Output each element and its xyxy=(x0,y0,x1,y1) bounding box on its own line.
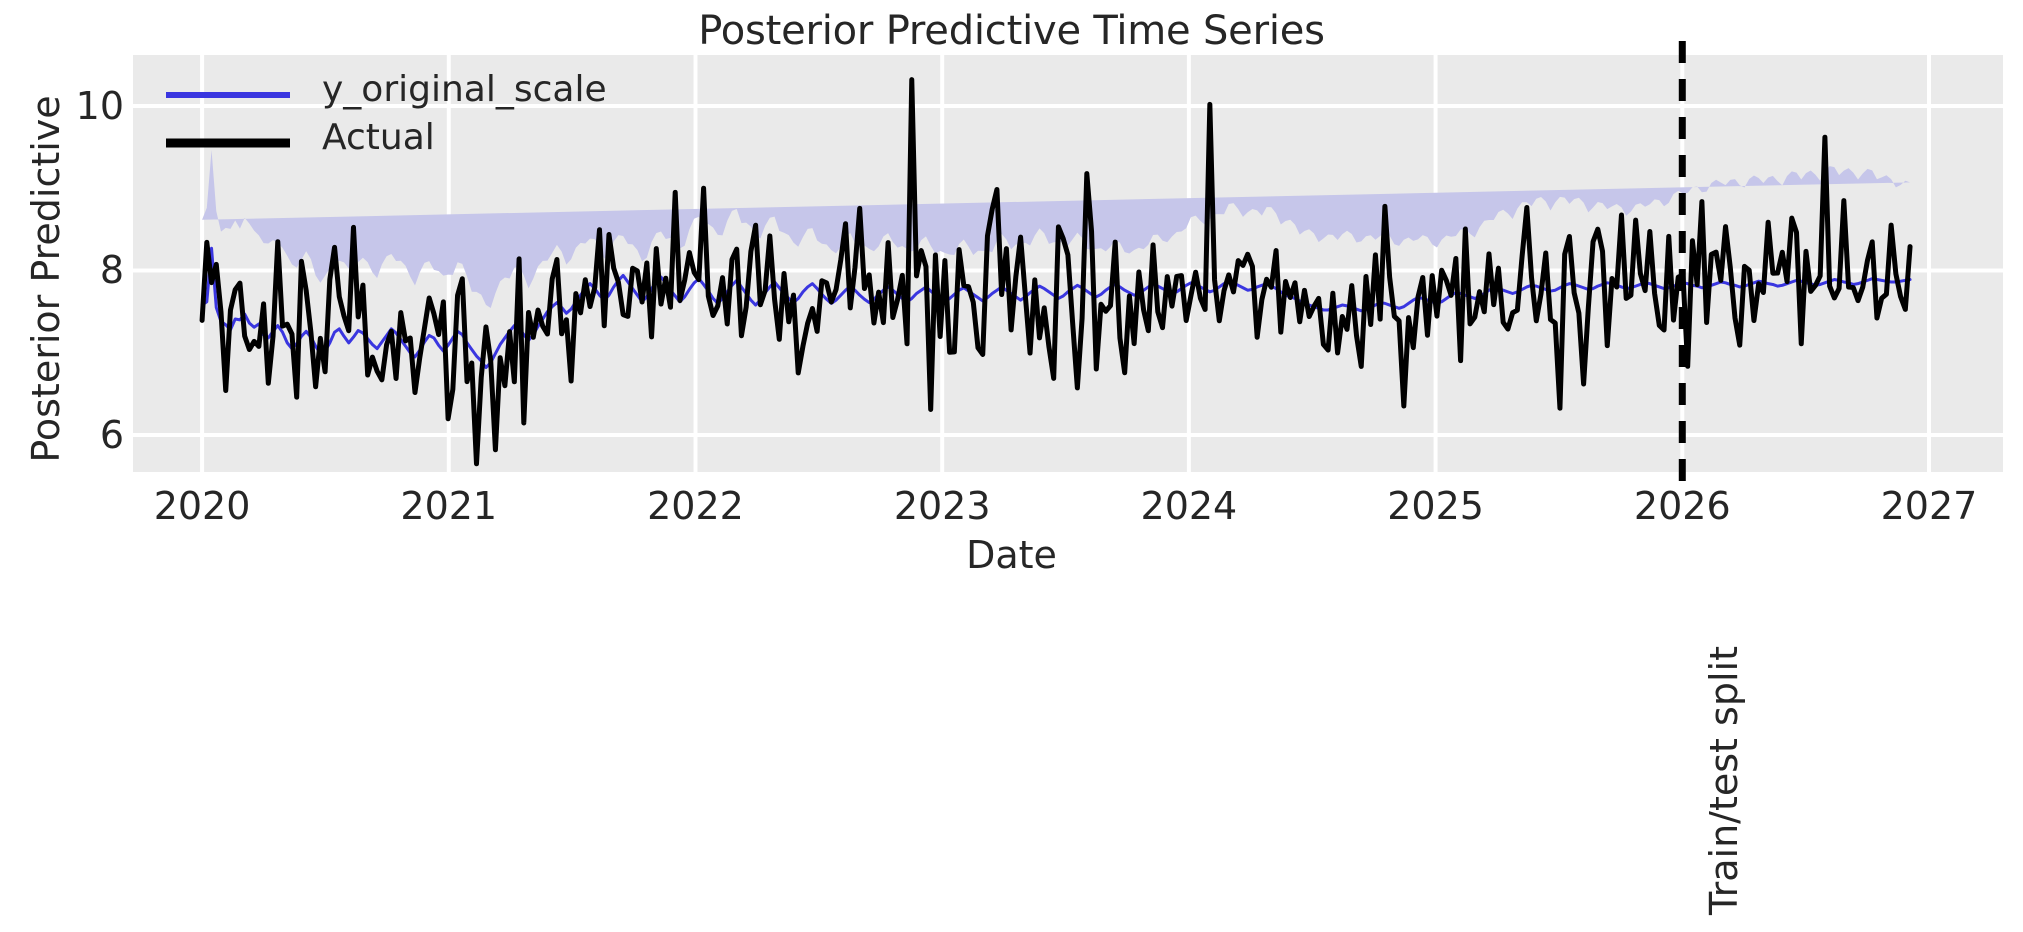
legend-label-y-original-scale: y_original_scale xyxy=(322,69,607,110)
chart-figure: Posterior Predictive Time Series Posteri… xyxy=(0,0,2023,932)
train-test-split-label: Train/test split xyxy=(1702,646,1746,915)
legend-label-actual: Actual xyxy=(322,117,435,158)
